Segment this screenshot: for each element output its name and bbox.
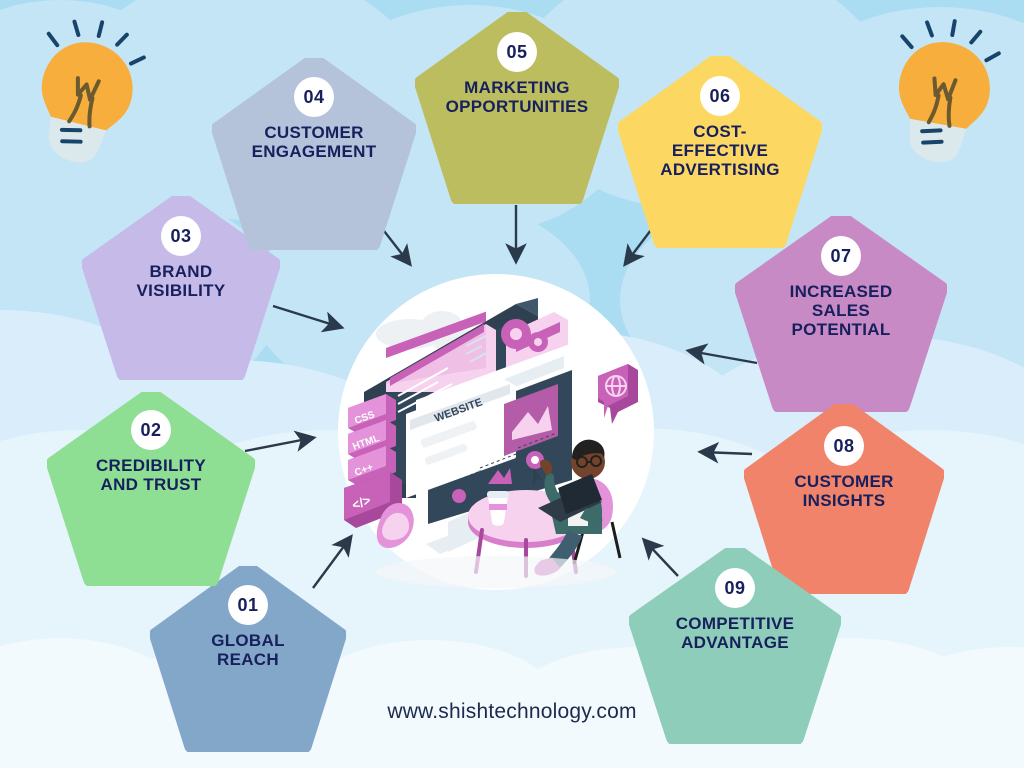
pentagon-content: 05MARKETING OPPORTUNITIES xyxy=(415,12,619,204)
pentagon-content: 02CREDIBILITY AND TRUST xyxy=(47,392,255,586)
node-number-badge: 08 xyxy=(824,426,864,466)
pentagon-node-05[interactable]: 05MARKETING OPPORTUNITIES xyxy=(415,12,619,204)
pentagon-content: 07INCREASED SALES POTENTIAL xyxy=(735,216,947,412)
node-number-badge: 03 xyxy=(161,216,201,256)
node-number-badge: 01 xyxy=(228,585,268,625)
infographic-canvas: WEBSITE CSS HTML C++ xyxy=(0,0,1024,768)
node-label: COST- EFFECTIVE ADVERTISING xyxy=(654,122,785,179)
node-label: BRAND VISIBILITY xyxy=(131,262,232,300)
node-label: CUSTOMER ENGAGEMENT xyxy=(246,123,383,161)
connector-arrows xyxy=(245,205,757,588)
node-number-badge: 09 xyxy=(715,568,755,608)
pentagon-node-07[interactable]: 07INCREASED SALES POTENTIAL xyxy=(735,216,947,412)
node-number-badge: 07 xyxy=(821,236,861,276)
node-label: CREDIBILITY AND TRUST xyxy=(90,456,212,494)
pentagon-node-02[interactable]: 02CREDIBILITY AND TRUST xyxy=(47,392,255,586)
node-number-badge: 05 xyxy=(497,32,537,72)
pentagon-content: 04CUSTOMER ENGAGEMENT xyxy=(212,58,416,250)
node-label: COMPETITIVE ADVANTAGE xyxy=(670,614,801,652)
node-label: INCREASED SALES POTENTIAL xyxy=(784,282,899,339)
node-number-badge: 02 xyxy=(131,410,171,450)
pentagon-content: 01GLOBAL REACH xyxy=(150,566,346,752)
node-number-badge: 04 xyxy=(294,77,334,117)
pentagon-node-01[interactable]: 01GLOBAL REACH xyxy=(150,566,346,752)
arrow-02-to-center xyxy=(245,438,312,451)
pentagon-node-04[interactable]: 04CUSTOMER ENGAGEMENT xyxy=(212,58,416,250)
node-number-badge: 06 xyxy=(700,76,740,116)
node-label: CUSTOMER INSIGHTS xyxy=(788,472,899,510)
node-label: MARKETING OPPORTUNITIES xyxy=(440,78,595,116)
arrow-03-to-center xyxy=(273,306,340,327)
node-label: GLOBAL REACH xyxy=(205,631,291,669)
site-url: www.shishtechnology.com xyxy=(0,700,1024,724)
